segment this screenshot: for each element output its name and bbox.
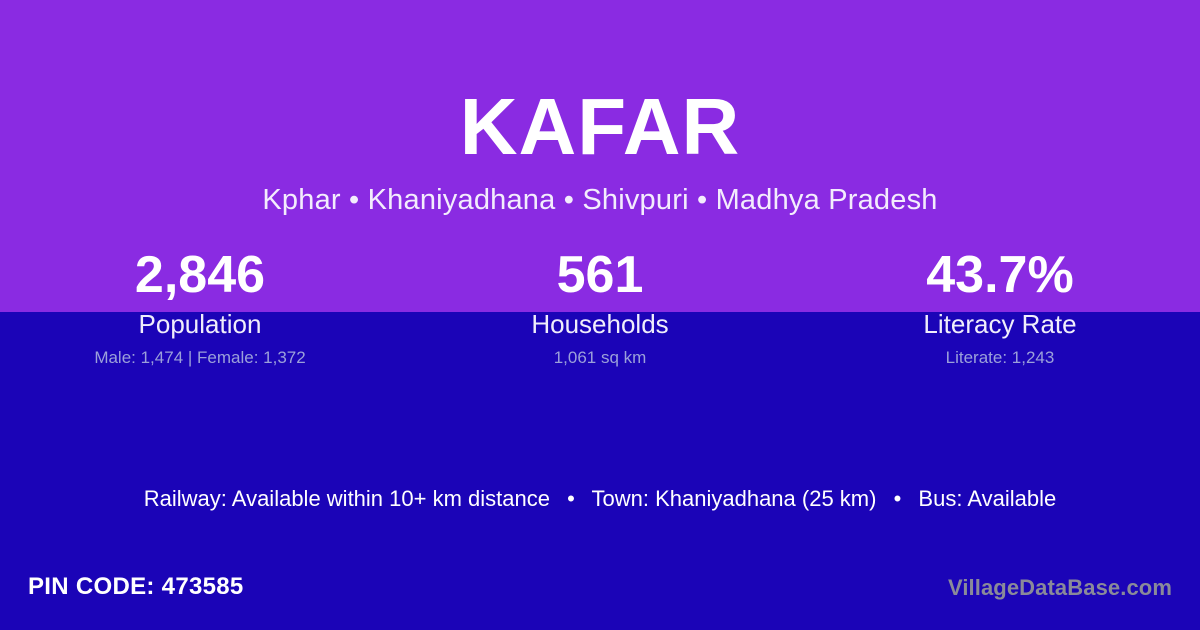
- stat-detail: Male: 1,474 | Female: 1,372: [0, 348, 400, 368]
- facility-railway: Railway: Available within 10+ km distanc…: [144, 486, 550, 511]
- stat-literacy-rate: 43.7% Literacy Rate Literate: 1,243: [800, 245, 1200, 368]
- page-title: KAFAR: [0, 84, 1200, 170]
- village-info-card: KAFAR Kphar • Khaniyadhana • Shivpuri • …: [0, 0, 1200, 630]
- stat-households: 561 Households 1,061 sq km: [400, 245, 800, 368]
- stat-detail: Literate: 1,243: [800, 348, 1200, 368]
- stat-label: Population: [0, 309, 400, 339]
- facility-town: Town: Khaniyadhana (25 km): [592, 486, 877, 511]
- stat-value: 2,846: [0, 245, 400, 305]
- stat-value: 43.7%: [800, 245, 1200, 305]
- stat-population: 2,846 Population Male: 1,474 | Female: 1…: [0, 245, 400, 368]
- bullet-separator-icon: •: [883, 486, 913, 511]
- stat-label: Literacy Rate: [800, 309, 1200, 339]
- stat-label: Households: [400, 309, 800, 339]
- stat-value: 561: [400, 245, 800, 305]
- facility-bus: Bus: Available: [918, 486, 1056, 511]
- breadcrumb: Kphar • Khaniyadhana • Shivpuri • Madhya…: [0, 182, 1200, 218]
- stats-row: 2,846 Population Male: 1,474 | Female: 1…: [0, 245, 1200, 368]
- card-footer: PIN CODE: 473585 VillageDataBase.com: [0, 570, 1200, 614]
- site-watermark: VillageDataBase.com: [948, 572, 1172, 604]
- bullet-separator-icon: •: [556, 486, 586, 511]
- pin-code: PIN CODE: 473585: [28, 570, 244, 604]
- facilities-row: Railway: Available within 10+ km distanc…: [0, 484, 1200, 514]
- stat-detail: 1,061 sq km: [400, 348, 800, 368]
